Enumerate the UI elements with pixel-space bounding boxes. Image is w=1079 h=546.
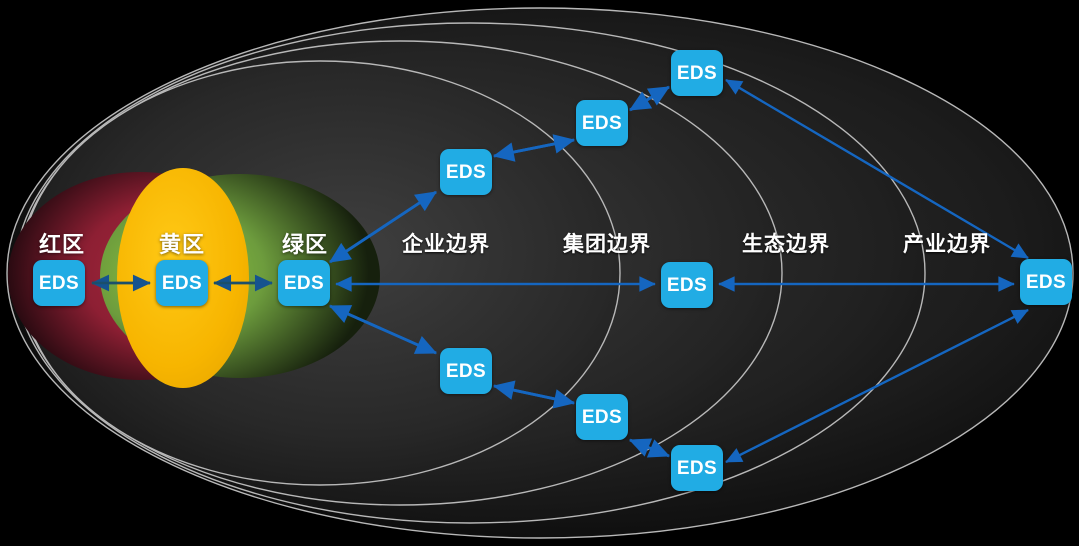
eds-node-label: EDS bbox=[446, 163, 486, 182]
eds-node-red[interactable]: EDS bbox=[33, 260, 85, 306]
eds-node-label: EDS bbox=[677, 64, 717, 83]
eds-node-upper-2[interactable]: EDS bbox=[576, 100, 628, 146]
eds-node-green[interactable]: EDS bbox=[278, 260, 330, 306]
boundary-label-ecosystem: 生态边界 bbox=[742, 228, 830, 258]
zone-label-yellow: 黄区 bbox=[159, 227, 205, 259]
zone-label-green: 绿区 bbox=[282, 227, 328, 259]
eds-node-label: EDS bbox=[284, 274, 324, 293]
eds-node-lower-3[interactable]: EDS bbox=[671, 445, 723, 491]
eds-node-label: EDS bbox=[582, 408, 622, 427]
eds-node-upper-1[interactable]: EDS bbox=[440, 149, 492, 195]
eds-node-label: EDS bbox=[39, 274, 79, 293]
boundary-label-enterprise: 企业边界 bbox=[402, 228, 490, 258]
eds-node-lower-2[interactable]: EDS bbox=[576, 394, 628, 440]
eds-node-label: EDS bbox=[667, 276, 707, 295]
eds-node-label: EDS bbox=[582, 114, 622, 133]
eds-node-lower-1[interactable]: EDS bbox=[440, 348, 492, 394]
eds-node-label: EDS bbox=[446, 362, 486, 381]
eds-node-label: EDS bbox=[677, 459, 717, 478]
eds-node-label: EDS bbox=[1026, 273, 1066, 292]
boundary-label-industry: 产业边界 bbox=[903, 228, 991, 258]
eds-node-yellow[interactable]: EDS bbox=[156, 260, 208, 306]
boundary-label-group: 集团边界 bbox=[563, 228, 651, 258]
eds-node-industry[interactable]: EDS bbox=[1020, 259, 1072, 305]
eds-node-upper-3[interactable]: EDS bbox=[671, 50, 723, 96]
eds-node-label: EDS bbox=[162, 274, 202, 293]
diagram-canvas: 红区 黄区 绿区 企业边界 集团边界 生态边界 产业边界 EDS EDS EDS… bbox=[0, 0, 1079, 546]
zone-label-red: 红区 bbox=[39, 227, 85, 259]
eds-node-center[interactable]: EDS bbox=[661, 262, 713, 308]
